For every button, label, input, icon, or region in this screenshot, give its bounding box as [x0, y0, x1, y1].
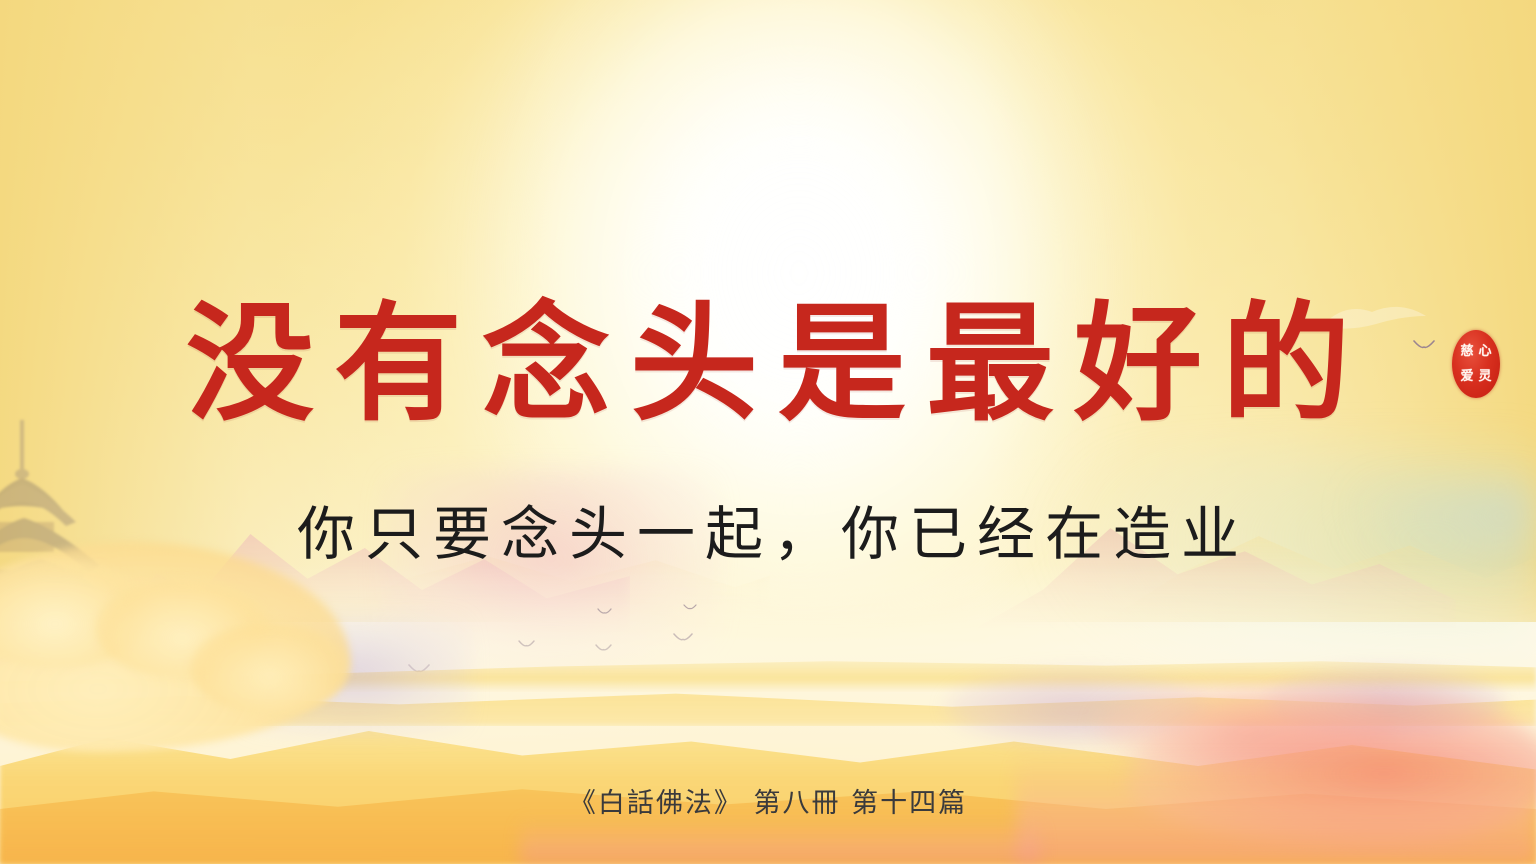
source-citation: 《白話佛法》 第八冊 第十四篇	[0, 781, 1536, 820]
poster-canvas: 没有念头是最好的 你只要念头一起，你已经在造业 《白話佛法》 第八冊 第十四篇 …	[0, 0, 1536, 864]
seal-char-1: 慈	[1460, 345, 1473, 358]
seal-stamp: 慈 心 爱 灵	[1452, 330, 1500, 398]
page-title: 没有念头是最好的	[0, 300, 1536, 428]
seal-char-3: 爱	[1460, 370, 1473, 383]
seal-char-2: 心	[1478, 345, 1491, 358]
page-subtitle: 你只要念头一起，你已经在造业	[0, 505, 1536, 563]
seal-char-4: 灵	[1478, 370, 1491, 383]
cloud-coral-base-center	[520, 818, 1040, 864]
cloud-puff-c	[190, 622, 350, 714]
